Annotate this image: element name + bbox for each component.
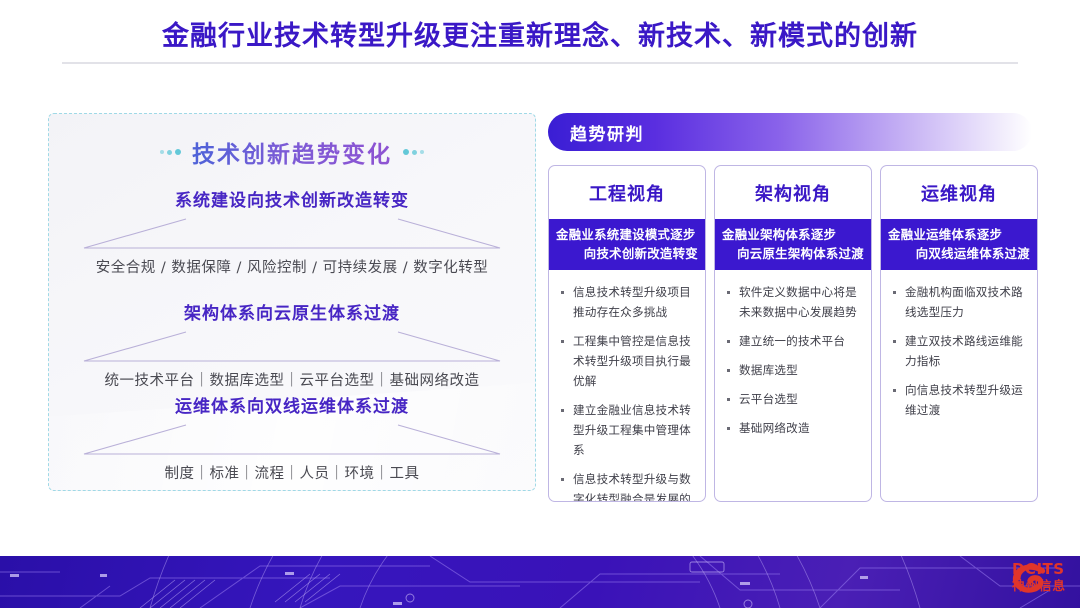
- card-banner-line-1: 金融业架构体系逐步: [719, 225, 867, 244]
- footer-circuit-pattern: [0, 556, 1080, 608]
- card-banner-line-1: 金融业系统建设模式逐步: [553, 225, 701, 244]
- trend-block-3: 运维体系向双线运维体系过渡 制度｜标准｜流程｜人员｜环境｜工具: [49, 392, 535, 483]
- title-divider: [62, 62, 1018, 64]
- funnel-shape-1: [76, 217, 508, 251]
- trend-judgement-panel: 趋势研判 工程视角 金融业系统建设模式逐步 向技术创新改造转变 信息技术转型升级…: [548, 113, 1048, 503]
- list-item: 建立统一的技术平台: [724, 332, 864, 352]
- perspective-cards: 工程视角 金融业系统建设模式逐步 向技术创新改造转变 信息技术转型升级项目推动存…: [548, 165, 1038, 502]
- list-item: 信息技术转型升级与数字化转型融合是发展的必行之路: [558, 470, 698, 502]
- dots-right-icon: [403, 149, 424, 155]
- trend-block-1-title: 系统建设向技术创新改造转变: [49, 186, 535, 211]
- dcits-swirl-icon: [1012, 562, 1048, 596]
- card-title: 运维视角: [881, 166, 1037, 219]
- list-item: 建立双技术路线运维能力指标: [890, 332, 1030, 372]
- trend-block-1-items: 安全合规 / 数据保障 / 风险控制 / 可持续发展 / 数字化转型: [49, 256, 535, 277]
- list-item: 工程集中管控是信息技术转型升级项目执行最优解: [558, 332, 698, 392]
- list-item: 金融机构面临双技术路线选型压力: [890, 283, 1030, 323]
- left-panel-heading: 技术创新趋势变化: [49, 135, 535, 169]
- trend-judgement-bar: 趋势研判: [548, 113, 1032, 151]
- list-item: 建立金融业信息技术转型升级工程集中管理体系: [558, 401, 698, 461]
- page-title: 金融行业技术转型升级更注重新理念、新技术、新模式的创新: [0, 14, 1080, 53]
- card-bullet-list: 金融机构面临双技术路线选型压力 建立双技术路线运维能力指标 向信息技术转型升级运…: [881, 270, 1037, 438]
- list-item: 数据库选型: [724, 361, 864, 381]
- card-operations-perspective[interactable]: 运维视角 金融业运维体系逐步 向双线运维体系过渡 金融机构面临双技术路线选型压力…: [880, 165, 1038, 502]
- card-banner-line-2: 向技术创新改造转变: [553, 244, 701, 263]
- list-item: 基础网络改造: [724, 419, 864, 439]
- card-title: 工程视角: [549, 166, 705, 219]
- trend-block-3-items: 制度｜标准｜流程｜人员｜环境｜工具: [49, 462, 535, 483]
- list-item: 云平台选型: [724, 390, 864, 410]
- footer-band: DCITS 神州信息: [0, 556, 1080, 608]
- funnel-shape-2: [76, 330, 508, 364]
- card-banner: 金融业系统建设模式逐步 向技术创新改造转变: [549, 219, 705, 270]
- card-architecture-perspective[interactable]: 架构视角 金融业架构体系逐步 向云原生架构体系过渡 软件定义数据中心将是未来数据…: [714, 165, 872, 502]
- trend-block-2-items: 统一技术平台｜数据库选型｜云平台选型｜基础网络改造: [49, 369, 535, 390]
- card-banner: 金融业运维体系逐步 向双线运维体系过渡: [881, 219, 1037, 270]
- list-item: 信息技术转型升级项目推动存在众多挑战: [558, 283, 698, 323]
- card-bullet-list: 软件定义数据中心将是未来数据中心发展趋势 建立统一的技术平台 数据库选型 云平台…: [715, 270, 871, 456]
- dots-left-icon: [160, 149, 181, 155]
- company-logo: DCITS 神州信息: [1012, 562, 1066, 593]
- trend-block-3-title: 运维体系向双线运维体系过渡: [49, 392, 535, 417]
- trend-change-panel: 技术创新趋势变化 系统建设向技术创新改造转变 安全合规 / 数据保障 / 风险控…: [48, 113, 536, 491]
- card-engineering-perspective[interactable]: 工程视角 金融业系统建设模式逐步 向技术创新改造转变 信息技术转型升级项目推动存…: [548, 165, 706, 502]
- trend-block-2-title: 架构体系向云原生体系过渡: [49, 299, 535, 324]
- card-banner-line-2: 向云原生架构体系过渡: [719, 244, 867, 263]
- card-banner-line-1: 金融业运维体系逐步: [885, 225, 1033, 244]
- funnel-shape-3: [76, 423, 508, 457]
- card-banner: 金融业架构体系逐步 向云原生架构体系过渡: [715, 219, 871, 270]
- card-bullet-list: 信息技术转型升级项目推动存在众多挑战 工程集中管控是信息技术转型升级项目执行最优…: [549, 270, 705, 502]
- trend-block-1: 系统建设向技术创新改造转变 安全合规 / 数据保障 / 风险控制 / 可持续发展…: [49, 186, 535, 277]
- left-panel-heading-label: 技术创新趋势变化: [192, 135, 392, 169]
- card-banner-line-2: 向双线运维体系过渡: [885, 244, 1033, 263]
- trend-block-2: 架构体系向云原生体系过渡 统一技术平台｜数据库选型｜云平台选型｜基础网络改造: [49, 299, 535, 390]
- list-item: 软件定义数据中心将是未来数据中心发展趋势: [724, 283, 864, 323]
- trend-judgement-label: 趋势研判: [570, 120, 644, 145]
- card-title: 架构视角: [715, 166, 871, 219]
- list-item: 向信息技术转型升级运维过渡: [890, 381, 1030, 421]
